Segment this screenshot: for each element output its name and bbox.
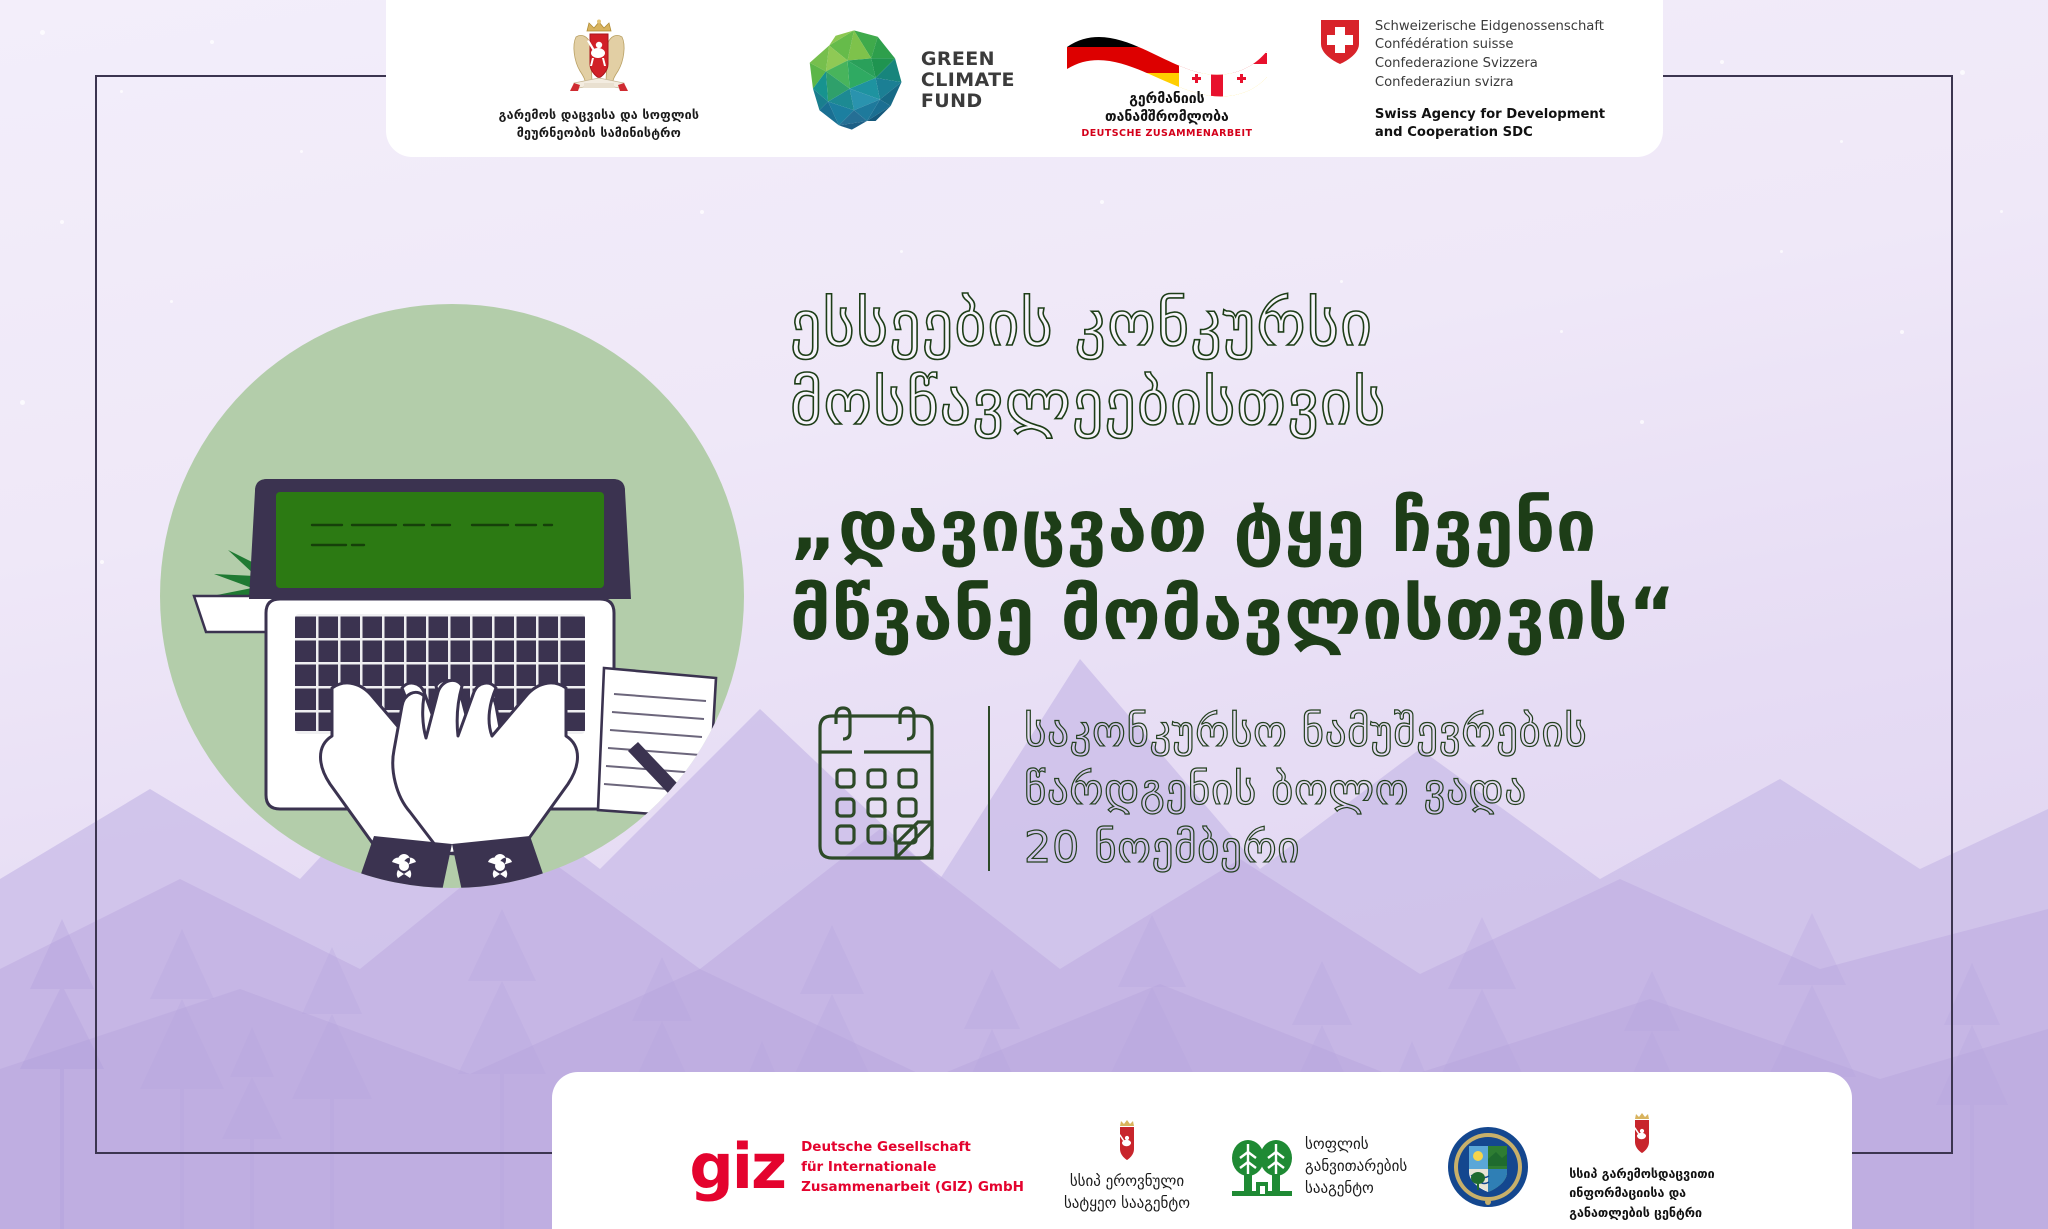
poster-subtitle: ესსეების კონკურსი მოსწავლეებისთვის (790, 284, 1930, 443)
green-climate-fund-globe-icon (800, 26, 908, 134)
giz-wordmark: giz (689, 1142, 785, 1193)
sdc-bold-line-2: and Cooperation SDC (1375, 124, 1605, 143)
logo-german-cooperation: გერმანიის თანამშრომლობა DEUTSCHE ZUSAMME… (1061, 21, 1273, 139)
logo-giz: giz Deutsche Gesellschaft für Internatio… (689, 1137, 1024, 1198)
logo-ajara-forestry-seal (1447, 1126, 1529, 1208)
national-forestry-agency-caption: სსიპ ეროვნული სატყეო სააგენტო (1064, 1171, 1190, 1215)
swiss-line-2: Confédération suisse (1375, 36, 1605, 55)
logo-ministry-environment: გარემოს დაცვისა და სოფლის მეურნეობის სამ… (444, 19, 754, 142)
forest-development-agency-trees-icon (1230, 1136, 1294, 1198)
logo-swiss-sdc: Schweizerische Eidgenossenschaft Confédé… (1319, 18, 1605, 143)
ajara-forestry-agency-seal-icon (1447, 1126, 1529, 1208)
poster-canvas: გარემოს დაცვისა და სოფლის მეურნეობის სამ… (0, 0, 2048, 1229)
title-line-2: მოსწავლეებისთვის (790, 363, 1930, 442)
german-coop-subtitle: DEUTSCHE ZUSAMMENARBEIT (1081, 128, 1252, 139)
logo-national-forestry-agency: სსიპ ეროვნული სატყეო სააგენტო (1064, 1119, 1190, 1215)
logo-forest-development-agency: სოფლის განვითარების სააგენტო (1230, 1134, 1407, 1199)
german-georgian-flag-ribbon-icon (1061, 21, 1273, 99)
deadline-text: საკონკურსო ნამუშევრების წარდგენის ბოლო ვ… (1024, 700, 1587, 877)
swiss-line-4: Confederaziun svizra (1375, 74, 1605, 93)
deadline-line-2: წარდგენის ბოლო ვადა (1024, 762, 1587, 820)
forest-development-agency-caption: სოფლის განვითარების სააგენტო (1305, 1134, 1407, 1199)
deadline-divider (988, 706, 990, 871)
swiss-shield-icon (1319, 18, 1361, 66)
swiss-line-3: Confederazione Svizzera (1375, 55, 1605, 74)
laptop-typing-illustration (152, 296, 752, 896)
environmental-information-center-crest-icon (1625, 1112, 1659, 1158)
bottom-partner-logo-bar: giz Deutsche Gesellschaft für Internatio… (552, 1072, 1852, 1229)
deadline-line-1: საკონკურსო ნამუშევრების (1024, 704, 1587, 762)
logo-green-climate-fund: GREEN CLIMATE FUND (800, 26, 1015, 134)
swiss-line-1: Schweizerische Eidgenossenschaft (1375, 18, 1605, 37)
giz-subtitle: Deutsche Gesellschaft für Internationale… (801, 1137, 1024, 1198)
ministry-caption: გარემოს დაცვისა და სოფლის მეურნეობის სამ… (499, 106, 699, 142)
logo-environmental-information-center: სსიპ გარემოსდაცვითი ინფორმაციისა და განა… (1569, 1112, 1714, 1222)
deadline-block: საკონკურსო ნამუშევრების წარდგენის ბოლო ვ… (790, 700, 1930, 877)
quote-line-1: „დავიცვათ ტყე ჩვენი (790, 483, 1930, 571)
national-forestry-agency-crest-icon (1110, 1119, 1144, 1165)
deadline-line-3: 20 ნოემბერი (1024, 820, 1587, 878)
gcf-wordmark: GREEN CLIMATE FUND (921, 49, 1015, 112)
title-line-1: ესსეების კონკურსი (790, 284, 1930, 363)
quote-line-2: მწვანე მომავლისთვის“ (790, 571, 1930, 659)
poster-content: ესსეების კონკურსი მოსწავლეებისთვის „დავი… (790, 284, 1930, 877)
poster-main-title: „დავიცვათ ტყე ჩვენი მწვანე მომავლისთვის“ (790, 483, 1930, 659)
calendar-icon (790, 700, 962, 876)
sdc-bold-line-1: Swiss Agency for Development (1375, 106, 1605, 125)
georgia-ministry-crest-icon (568, 19, 630, 99)
top-partner-logo-bar: გარემოს დაცვისა და სოფლის მეურნეობის სამ… (386, 0, 1663, 157)
environmental-information-center-caption: სსიპ გარემოსდაცვითი ინფორმაციისა და განა… (1569, 1164, 1714, 1222)
german-coop-georgian-text: გერმანიის თანამშრომლობა (1105, 91, 1229, 126)
notepad-icon (598, 668, 716, 818)
